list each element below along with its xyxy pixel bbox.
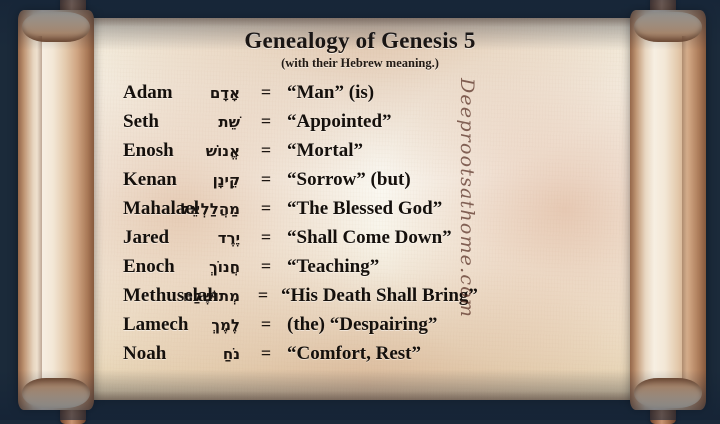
table-row: קֵינָן Kenan = “Sorrow” (but) bbox=[0, 169, 720, 198]
scroll-rod-top-left bbox=[60, 0, 86, 36]
parchment-bottom-edge bbox=[92, 391, 642, 400]
hebrew-meaning: “Comfort, Rest” bbox=[287, 343, 720, 365]
table-row: מַהֲלַלְאֵל Mahalael = “The Blessed God” bbox=[0, 198, 720, 227]
hebrew-meaning: “Sorrow” (but) bbox=[287, 169, 720, 191]
hebrew-meaning: (the) “Despairing” bbox=[287, 314, 720, 336]
page-subtitle: (with their Hebrew meaning.) bbox=[0, 56, 720, 71]
hebrew-name: אָדָם bbox=[0, 84, 245, 102]
english-name: Enosh bbox=[123, 140, 245, 162]
table-row: לֶמֶךְ Lamech = (the) “Despairing” bbox=[0, 314, 720, 343]
english-name: Jared bbox=[123, 227, 245, 249]
hebrew-meaning: “Shall Come Down” bbox=[287, 227, 720, 249]
hebrew-name: קֵינָן bbox=[0, 171, 245, 189]
scroll-roll-right bbox=[630, 10, 706, 410]
scroll-rod-bottom-left bbox=[60, 382, 86, 424]
hebrew-name: חֲנוֹךְ bbox=[0, 258, 245, 276]
genealogy-table: אָדָם Adam = “Man” (is) שֵׁת Seth = “App… bbox=[0, 82, 720, 372]
equals-sign: = bbox=[245, 111, 287, 132]
scroll-roll-right-seam bbox=[682, 36, 687, 384]
table-row: מְתוּשֶׁלַח Methuselah = “His Death Shal… bbox=[0, 285, 720, 314]
english-name: Kenan bbox=[123, 169, 245, 191]
equals-sign: = bbox=[245, 227, 287, 248]
equals-sign: = bbox=[245, 314, 287, 335]
parchment-sheet bbox=[92, 18, 642, 400]
page-title: Genealogy of Genesis 5 bbox=[0, 28, 720, 54]
watermark: Deeprootsathome.com bbox=[456, 78, 478, 318]
hebrew-name: שֵׁת bbox=[0, 113, 245, 131]
hebrew-meaning: “Man” (is) bbox=[287, 82, 720, 104]
equals-sign: = bbox=[245, 198, 287, 219]
english-name: Noah bbox=[123, 343, 245, 365]
equals-sign: = bbox=[245, 343, 287, 364]
equals-sign: = bbox=[245, 82, 287, 103]
hebrew-meaning: “His Death Shall Bring” bbox=[281, 285, 720, 307]
scroll-roll-left bbox=[18, 10, 94, 410]
hebrew-name: אֱנוֹשׁ bbox=[0, 142, 245, 160]
hebrew-meaning: “Appointed” bbox=[287, 111, 720, 133]
table-row: אֱנוֹשׁ Enosh = “Mortal” bbox=[0, 140, 720, 169]
hebrew-name: מַהֲלַלְאֵל bbox=[0, 200, 245, 218]
equals-sign: = bbox=[245, 169, 287, 190]
hebrew-meaning: “The Blessed God” bbox=[287, 198, 720, 220]
table-row: יֶרֶד Jared = “Shall Come Down” bbox=[0, 227, 720, 256]
table-row: אָדָם Adam = “Man” (is) bbox=[0, 82, 720, 111]
scroll-roll-left-seam bbox=[37, 36, 42, 384]
hebrew-name: לֶמֶךְ bbox=[0, 316, 245, 334]
hebrew-name: נֹחַ bbox=[0, 345, 245, 363]
hebrew-name: מְתוּשֶׁלַח bbox=[0, 287, 245, 305]
table-row: חֲנוֹךְ Enoch = “Teaching” bbox=[0, 256, 720, 285]
english-name: Mahalael bbox=[123, 198, 245, 220]
english-name: Lamech bbox=[123, 314, 245, 336]
scroll-rod-top-right bbox=[650, 0, 676, 36]
equals-sign: = bbox=[245, 256, 287, 277]
hebrew-name: יֶרֶד bbox=[0, 229, 245, 247]
english-name: Adam bbox=[123, 82, 245, 104]
hebrew-meaning: “Mortal” bbox=[287, 140, 720, 162]
table-row: שֵׁת Seth = “Appointed” bbox=[0, 111, 720, 140]
equals-sign: = bbox=[245, 140, 287, 161]
english-name: Seth bbox=[123, 111, 245, 133]
english-name: Enoch bbox=[123, 256, 245, 278]
hebrew-meaning: “Teaching” bbox=[287, 256, 720, 278]
table-row: נֹחַ Noah = “Comfort, Rest” bbox=[0, 343, 720, 372]
scroll-rod-bottom-right bbox=[650, 382, 676, 424]
parchment-top-edge bbox=[92, 18, 642, 27]
english-name: Methuselah bbox=[123, 285, 245, 307]
scroll-illustration-background: Genealogy of Genesis 5 (with their Hebre… bbox=[0, 0, 720, 420]
equals-sign: = bbox=[245, 285, 281, 306]
